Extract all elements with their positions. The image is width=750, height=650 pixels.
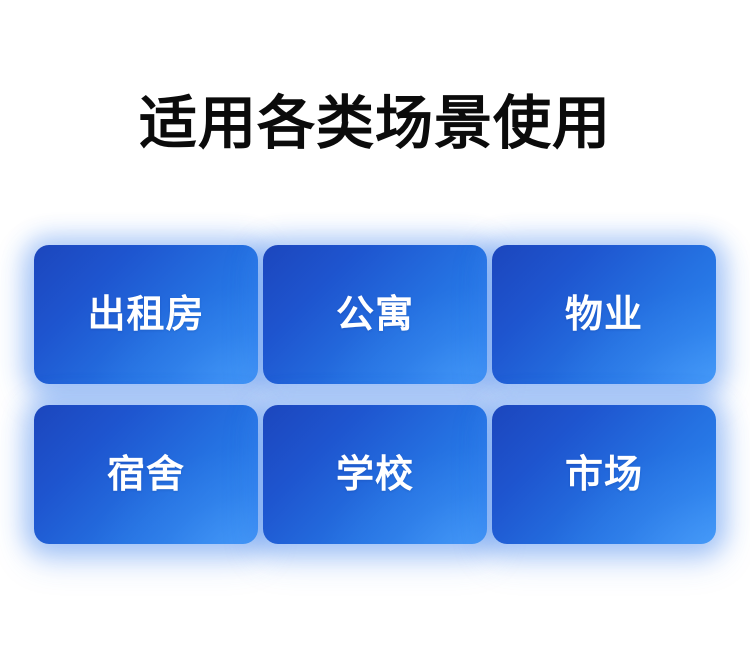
- scene-card-label: 宿舍: [107, 454, 185, 496]
- scene-card-market[interactable]: 市场: [492, 405, 716, 544]
- scene-card-dormitory[interactable]: 宿舍: [34, 405, 258, 544]
- scene-card-label: 市场: [565, 454, 643, 496]
- promo-page: 适用各类场景使用 出租房 公寓 物业 宿舍 学校 市场: [0, 0, 750, 650]
- scene-card-apartment[interactable]: 公寓: [263, 245, 487, 384]
- scene-card-label: 公寓: [336, 294, 414, 336]
- scene-card-label: 物业: [565, 294, 643, 336]
- page-title: 适用各类场景使用: [0, 88, 750, 160]
- scene-card-school[interactable]: 学校: [263, 405, 487, 544]
- scene-card-property[interactable]: 物业: [492, 245, 716, 384]
- scene-card-grid: 出租房 公寓 物业 宿舍 学校 市场: [34, 245, 716, 544]
- scene-card-label: 出租房: [87, 294, 204, 336]
- scene-card-rental-house[interactable]: 出租房: [34, 245, 258, 384]
- scene-card-label: 学校: [336, 454, 414, 496]
